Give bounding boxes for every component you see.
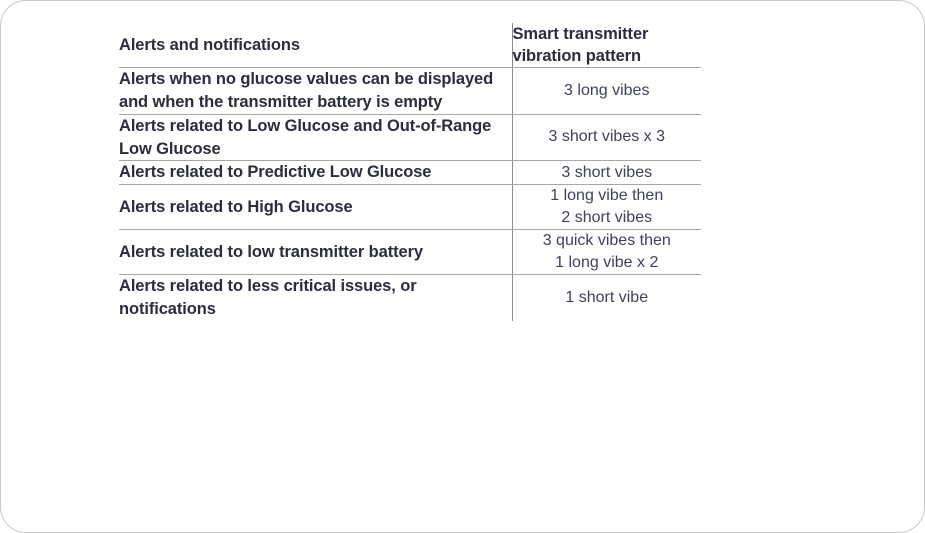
vibration-pattern: 3 short vibes x 3 [512,114,701,161]
table-body: Alerts when no glucose values can be dis… [119,68,701,321]
alerts-vibration-table: Alerts and notifications Smart transmitt… [119,23,701,321]
alert-description: Alerts related to Low Glucose and Out-of… [119,114,512,161]
column-header-alerts: Alerts and notifications [119,23,512,68]
table-row: Alerts related to Predictive Low Glucose… [119,161,701,185]
column-header-vibration-line-2: vibration pattern [513,45,702,67]
alert-description: Alerts related to less critical issues, … [119,275,512,321]
alert-description: Alerts when no glucose values can be dis… [119,68,512,115]
table-row: Alerts related to less critical issues, … [119,275,701,321]
vibration-pattern-line-1: 1 long vibe then [513,185,702,207]
table-row: Alerts when no glucose values can be dis… [119,68,701,115]
table-row: Alerts related to low transmitter batter… [119,230,701,275]
vibration-pattern: 1 long vibe then 2 short vibes [512,185,701,230]
column-header-vibration-line-1: Smart transmitter [513,23,702,45]
vibration-pattern: 1 short vibe [512,275,701,321]
vibration-pattern-line-1: 1 short vibe [513,287,702,309]
vibration-pattern-line-1: 3 short vibes x 3 [513,126,702,148]
table-header-row: Alerts and notifications Smart transmitt… [119,23,701,68]
alert-description: Alerts related to low transmitter batter… [119,230,512,275]
vibration-pattern: 3 long vibes [512,68,701,115]
alert-description: Alerts related to Predictive Low Glucose [119,161,512,185]
vibration-pattern-line-1: 3 short vibes [513,162,702,184]
table-row: Alerts related to Low Glucose and Out-of… [119,114,701,161]
page-card: Alerts and notifications Smart transmitt… [0,0,925,533]
vibration-pattern: 3 quick vibes then 1 long vibe x 2 [512,230,701,275]
vibration-pattern-line-1: 3 quick vibes then [513,230,702,252]
vibration-pattern-line-2: 1 long vibe x 2 [513,252,702,274]
vibration-pattern-line-2: 2 short vibes [513,207,702,229]
alert-description: Alerts related to High Glucose [119,185,512,230]
column-header-vibration: Smart transmitter vibration pattern [512,23,701,68]
vibration-pattern-line-1: 3 long vibes [513,80,702,102]
table-container: Alerts and notifications Smart transmitt… [119,23,701,321]
table-header: Alerts and notifications Smart transmitt… [119,23,701,68]
vibration-pattern: 3 short vibes [512,161,701,185]
table-row: Alerts related to High Glucose 1 long vi… [119,185,701,230]
